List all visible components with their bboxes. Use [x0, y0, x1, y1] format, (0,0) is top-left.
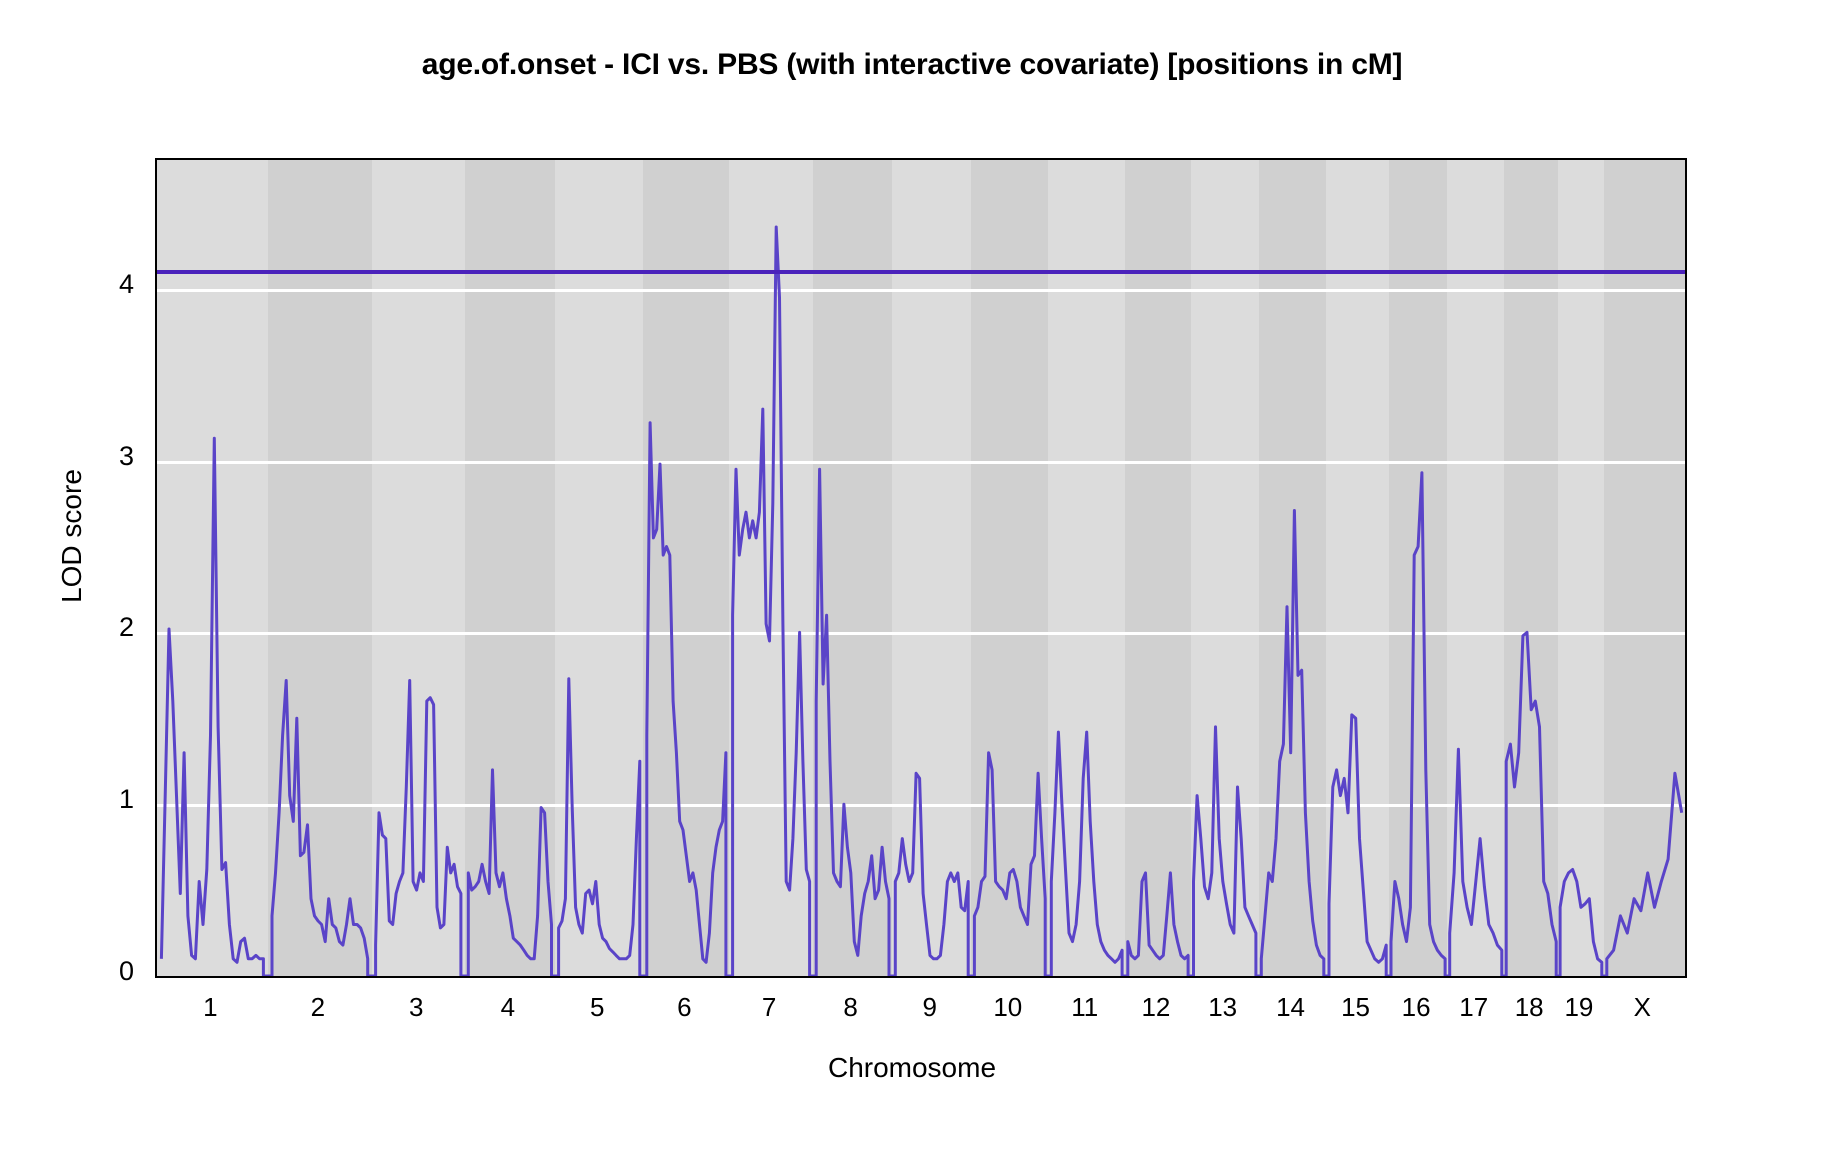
- qtl-lod-plot: age.of.onset - ICI vs. PBS (with interac…: [0, 0, 1824, 1152]
- x-tick-label-19: 19: [1564, 992, 1593, 1023]
- x-axis-title: Chromosome: [0, 1052, 1824, 1084]
- page-title: age.of.onset - ICI vs. PBS (with interac…: [0, 48, 1824, 82]
- x-tick-label-X: X: [1634, 992, 1651, 1023]
- x-tick-label-4: 4: [501, 992, 515, 1023]
- x-tick-label-2: 2: [311, 992, 325, 1023]
- x-tick-label-3: 3: [409, 992, 423, 1023]
- x-tick-label-15: 15: [1341, 992, 1370, 1023]
- x-tick-label-8: 8: [843, 992, 857, 1023]
- y-tick-label-1: 1: [74, 784, 134, 815]
- x-tick-label-9: 9: [923, 992, 937, 1023]
- x-tick-label-16: 16: [1402, 992, 1431, 1023]
- x-tick-label-10: 10: [993, 992, 1022, 1023]
- significance-threshold-line: [157, 270, 1685, 274]
- plot-panel: [155, 158, 1687, 978]
- x-tick-label-14: 14: [1276, 992, 1305, 1023]
- x-tick-label-7: 7: [762, 992, 776, 1023]
- lod-curve: [157, 160, 1685, 976]
- x-tick-label-12: 12: [1141, 992, 1170, 1023]
- y-tick-label-0: 0: [74, 956, 134, 987]
- y-axis-title: LOD score: [56, 406, 88, 666]
- x-tick-label-5: 5: [590, 992, 604, 1023]
- x-tick-label-18: 18: [1515, 992, 1544, 1023]
- x-tick-label-6: 6: [677, 992, 691, 1023]
- y-tick-label-4: 4: [74, 269, 134, 300]
- x-tick-label-11: 11: [1071, 992, 1098, 1023]
- x-tick-label-17: 17: [1459, 992, 1488, 1023]
- x-tick-label-13: 13: [1208, 992, 1237, 1023]
- x-tick-label-1: 1: [203, 992, 217, 1023]
